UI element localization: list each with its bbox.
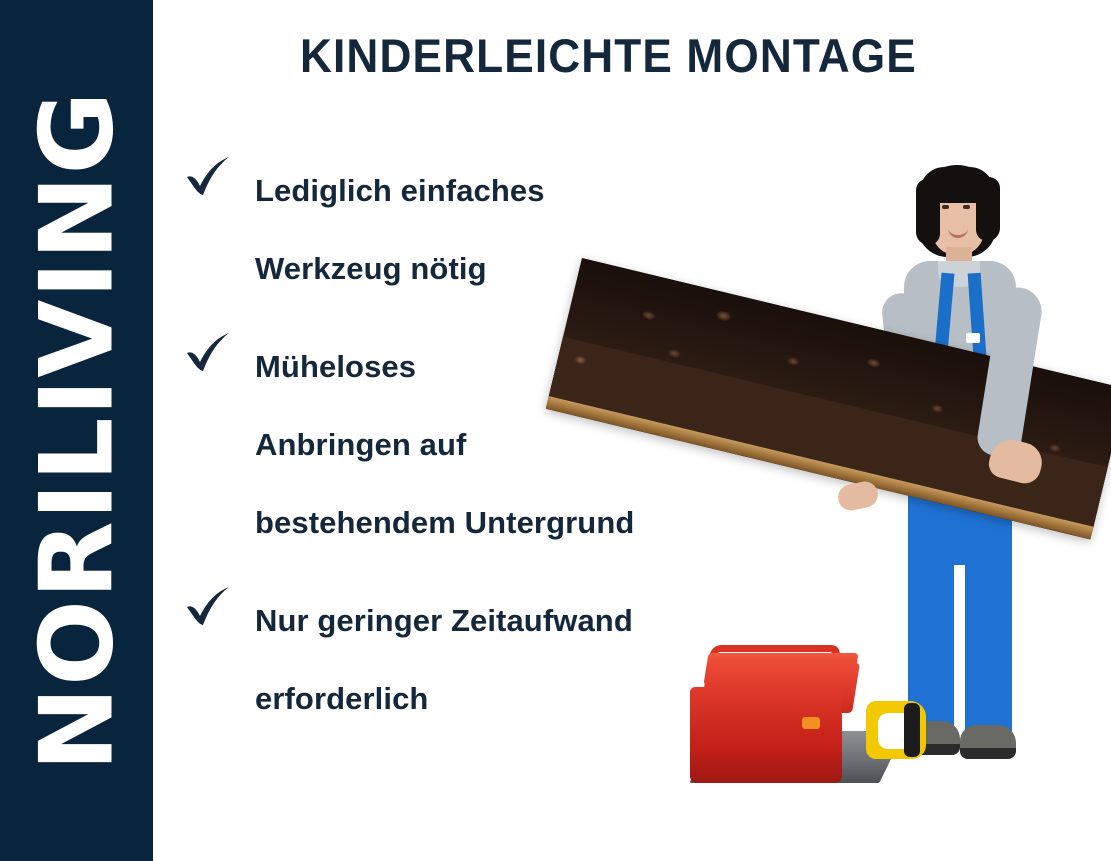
brand-side-band: NORILIVING	[0, 0, 153, 861]
product-photo-composition	[600, 140, 1111, 861]
hair-side-right-shape	[976, 177, 1000, 241]
page-title: KINDERLEICHTE MONTAGE	[300, 29, 917, 83]
hair-side-left-shape	[916, 179, 940, 245]
shoe-right-sole	[960, 748, 1016, 759]
promo-graphic: NORILIVING KINDERLEICHTE MONTAGE Ledigli…	[0, 0, 1111, 861]
checkmark-icon	[185, 586, 231, 628]
red-toolbox	[690, 687, 842, 783]
tools-group	[690, 635, 930, 835]
eye-right-shape	[963, 205, 970, 209]
checkmark-icon	[185, 332, 231, 374]
saw-handle-grip	[904, 703, 920, 757]
toolbox-latch	[802, 717, 820, 729]
trouser-leg-gap	[954, 565, 965, 740]
brand-wordmark: NORILIVING	[26, 90, 127, 771]
shirt-badge	[966, 333, 980, 343]
checkmark-icon	[185, 156, 231, 198]
eye-left-shape	[942, 205, 949, 209]
